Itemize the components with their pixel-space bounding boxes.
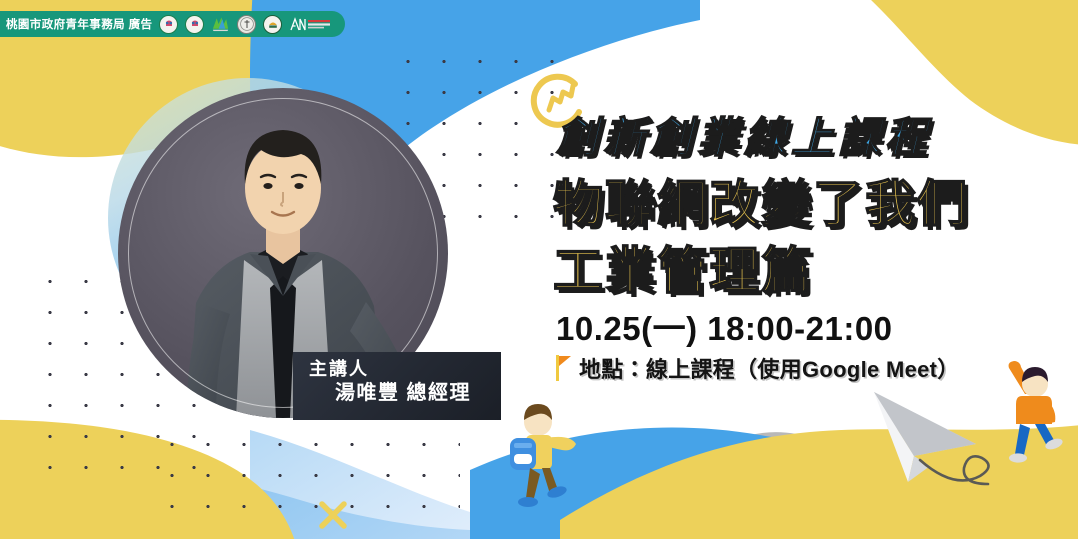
event-location-label: 地點：線上課程（使用Google Meet） [579, 352, 960, 384]
partner-organization-logo [289, 15, 333, 34]
headline-line-2: 物聯網改變了我們 [553, 164, 969, 236]
organizer-label: 桃園市政府青年事務局 廣告 [6, 16, 152, 32]
event-datetime: 10.25(一) 18:00-21:00 [556, 302, 893, 350]
university-seal-logo [237, 15, 256, 34]
youth-career-logo [211, 15, 230, 34]
flag-icon [556, 355, 572, 381]
headline-line-3: 工業管理篇 [553, 231, 813, 303]
course-promo-banner: 桃園市政府青年事務局 廣告 [0, 0, 1078, 539]
banner-content: 創新創業線上課程 物聯網改變了我們 工業管理篇 10.25(一) 18:00-2… [0, 0, 1078, 539]
headline-line-1: 創新創業線上課程 [556, 104, 932, 165]
innovation-center-logo [263, 15, 282, 34]
youth-affairs-bureau-logo [185, 15, 204, 34]
taoyuan-city-government-logo [159, 15, 178, 34]
organizer-bar: 桃園市政府青年事務局 廣告 [0, 11, 345, 37]
event-location-row: 地點：線上課程（使用Google Meet） [556, 352, 960, 384]
